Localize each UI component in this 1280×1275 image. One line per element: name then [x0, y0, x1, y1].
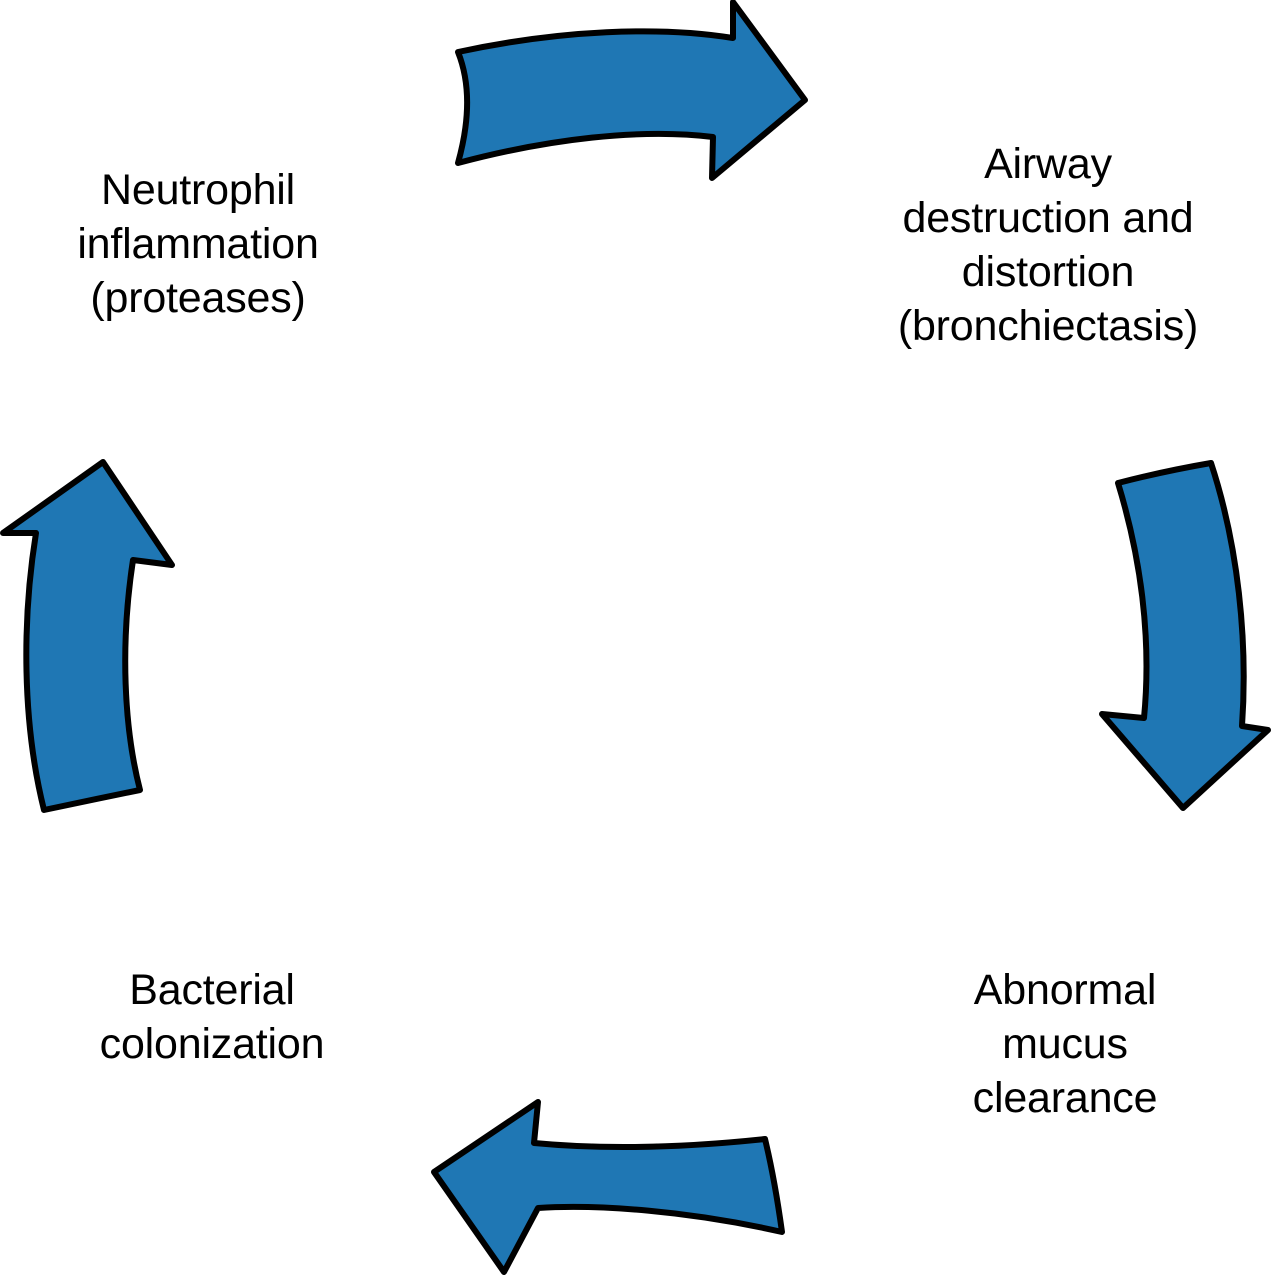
arrow-left-up-pointing-icon — [3, 462, 172, 810]
diagram-canvas: Neutrophil inflammation (proteases) Airw… — [0, 0, 1280, 1275]
arrow-right-down-pointing-icon — [1102, 463, 1268, 808]
node-label-neutrophil-inflammation: Neutrophil inflammation (proteases) — [18, 163, 378, 325]
node-label-airway-destruction: Airway destruction and distortion (bronc… — [848, 137, 1248, 353]
arrow-top-right-pointing-icon — [458, 2, 805, 178]
node-label-abnormal-mucus-clearance: Abnormal mucus clearance — [885, 963, 1245, 1125]
node-label-bacterial-colonization: Bacterial colonization — [32, 963, 392, 1071]
arrow-bottom-left-pointing-icon — [434, 1102, 782, 1272]
